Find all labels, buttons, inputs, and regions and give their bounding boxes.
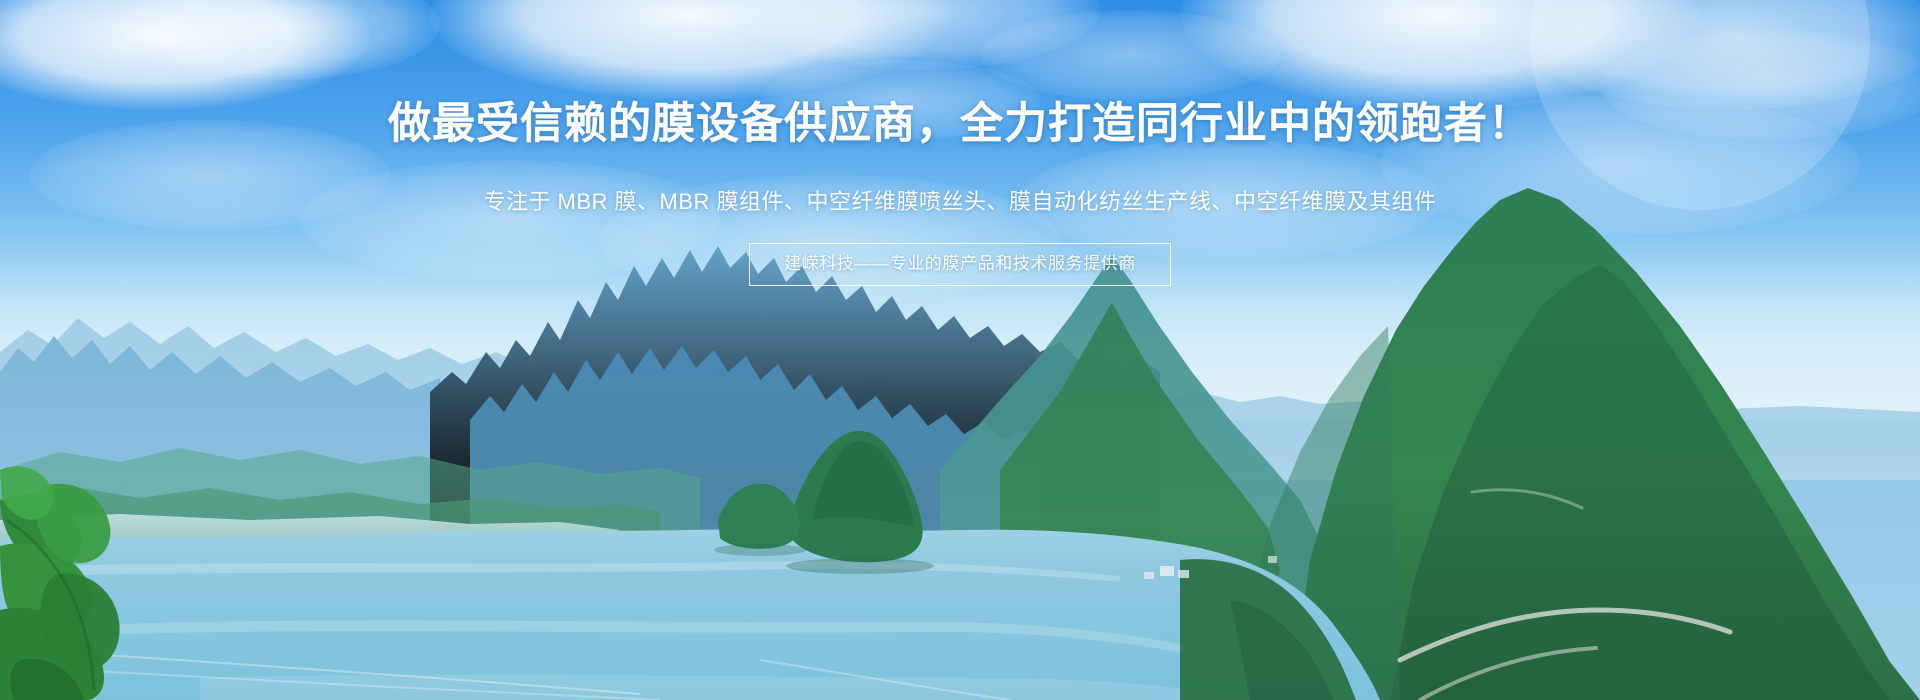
- banner-tagline-wrapper: 建嵘科技——专业的膜产品和技术服务提供商: [0, 243, 1920, 286]
- banner-tagline: 建嵘科技——专业的膜产品和技术服务提供商: [749, 243, 1171, 286]
- banner-copy: 做最受信赖的膜设备供应商，全力打造同行业中的领跑者！ 专注于 MBR 膜、MBR…: [0, 0, 1920, 700]
- banner-headline: 做最受信赖的膜设备供应商，全力打造同行业中的领跑者！: [0, 99, 1920, 149]
- banner-subheadline: 专注于 MBR 膜、MBR 膜组件、中空纤维膜喷丝头、膜自动化纺丝生产线、中空纤…: [0, 186, 1920, 218]
- hero-banner: 做最受信赖的膜设备供应商，全力打造同行业中的领跑者！ 专注于 MBR 膜、MBR…: [0, 0, 1920, 700]
